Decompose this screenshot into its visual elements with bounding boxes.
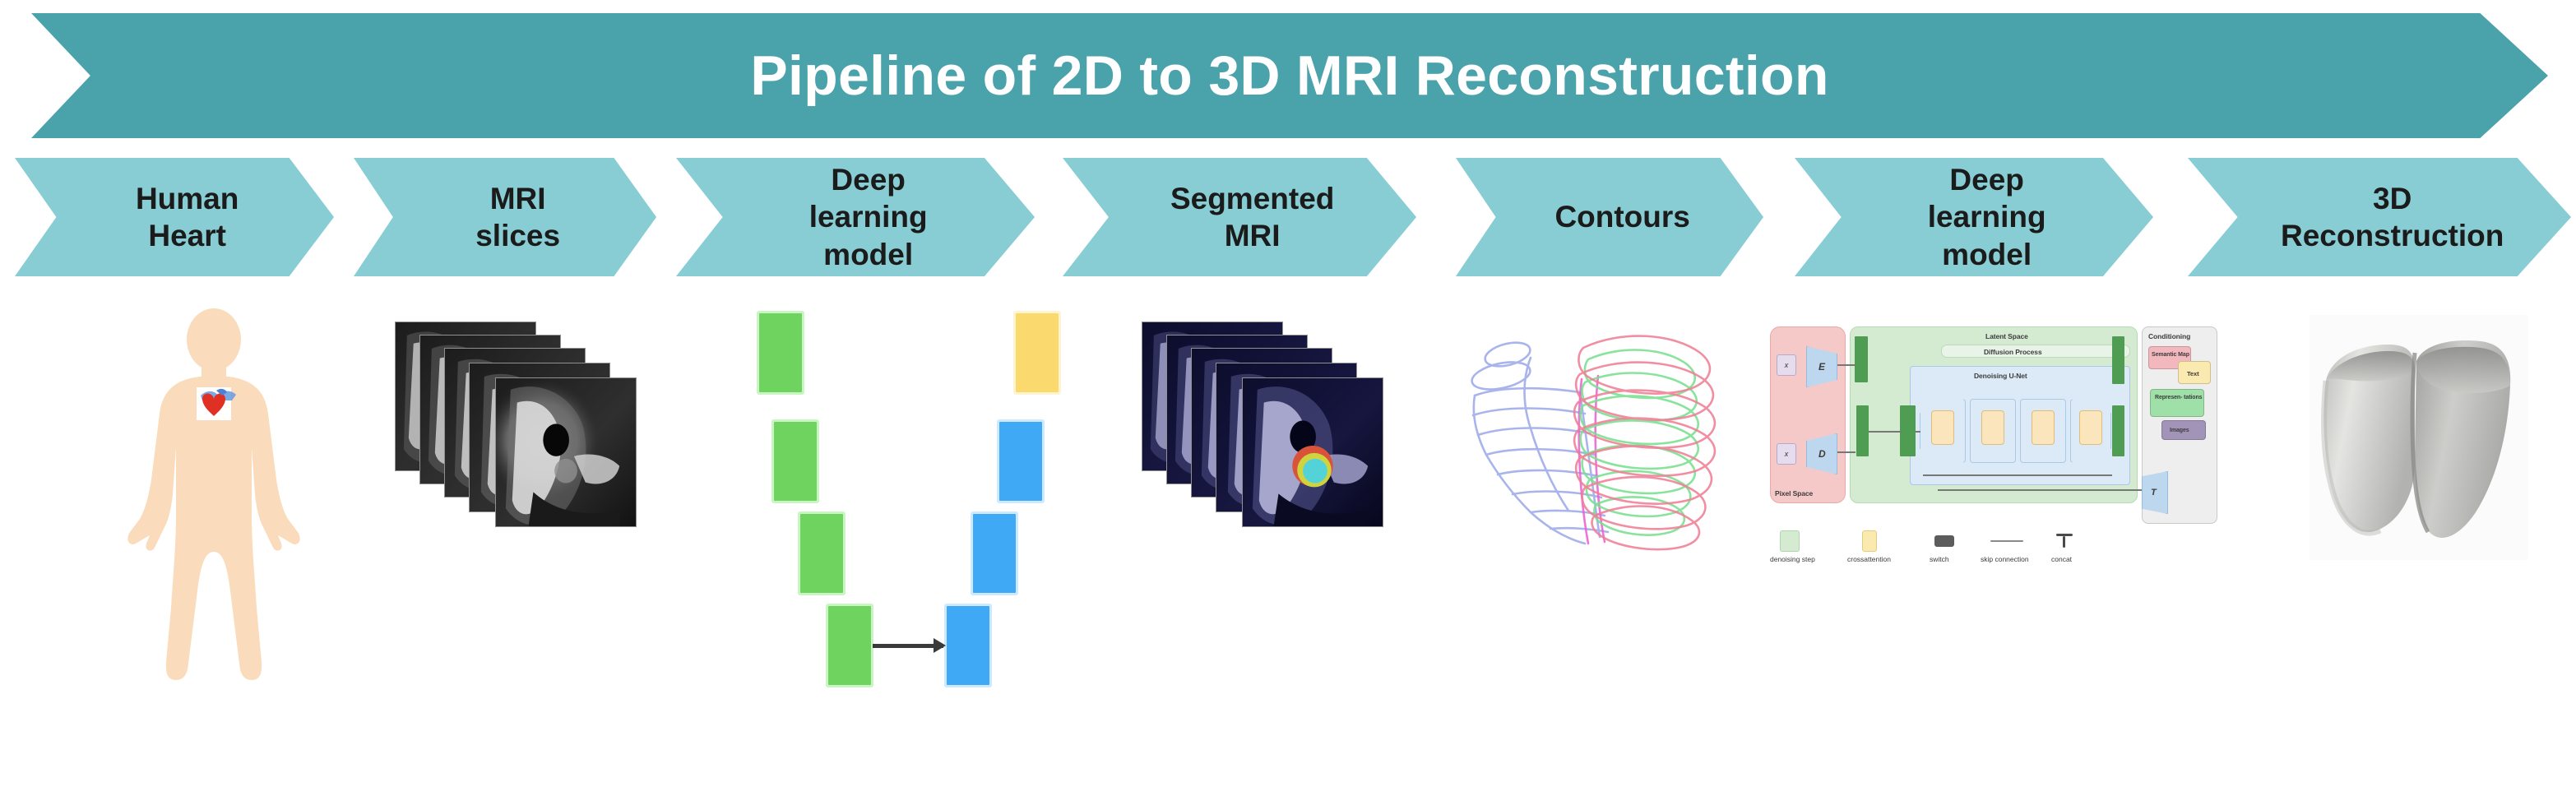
output-x-box: x: [1777, 443, 1796, 465]
title-banner: Pipeline of 2D to 3D MRI Reconstruction: [31, 13, 2548, 138]
latent-z-bar: [1855, 336, 1868, 382]
tau-symbol: T: [2151, 488, 2157, 497]
conditioning-images: Images: [2161, 420, 2206, 440]
legend-concat: concat: [2051, 555, 2072, 563]
step-label: Deep learning model: [1897, 161, 2076, 272]
crossattention-block: [2032, 410, 2055, 445]
connector-line: [1837, 451, 1856, 453]
connector-line: [1869, 431, 1902, 433]
latent-z-bar: [1856, 405, 1869, 456]
human-body-silhouette-icon: [115, 308, 313, 695]
unet-encoder-block: [774, 422, 817, 501]
concat-icon-stem: [2063, 536, 2065, 548]
step-deep-learning-model-2[interactable]: Deep learning model: [1795, 158, 2153, 276]
encoder-symbol: E: [1818, 361, 1825, 373]
conditioning-images-label: Images: [2170, 428, 2189, 433]
legend-denoising-step: denoising step: [1770, 555, 1815, 563]
input-x-box: x: [1777, 354, 1796, 376]
contour-wireframe-mesh-icon: [1460, 300, 1740, 572]
pipeline-content: Pixel Space x x E D Latent Space Diffusi…: [0, 292, 2576, 720]
unet-architecture-icon: [744, 307, 1073, 701]
step-label: Contours: [1554, 198, 1689, 235]
switch-icon: [1934, 535, 1954, 547]
ldm-legend: denoising step crossattention switch ski…: [1770, 530, 2263, 573]
legend-crossattention: crossattention: [1847, 555, 1891, 563]
step-segmented-mri[interactable]: Segmented MRI: [1063, 158, 1416, 276]
latent-z-bar: [1903, 405, 1916, 456]
segmented-mri-stack: [1142, 322, 1405, 568]
step-human-heart[interactable]: Human Heart: [15, 158, 334, 276]
skip-connection-line: [1923, 474, 2112, 476]
connector-line: [1916, 431, 1920, 433]
segmented-slice-overlay: [1242, 377, 1383, 527]
mri-slice-stack: [395, 322, 658, 568]
latent-zT-bar: [2112, 336, 2124, 384]
decoder-symbol: D: [1818, 448, 1826, 460]
page-title: Pipeline of 2D to 3D MRI Reconstruction: [750, 44, 1828, 108]
conditioning-text-label: Text: [2187, 370, 2198, 377]
step-label: Human Heart: [136, 180, 239, 254]
pixel-space-label: Pixel Space: [1775, 489, 1813, 497]
step-contours[interactable]: Contours: [1456, 158, 1763, 276]
denoising-unet-label: Denoising U-Net: [1974, 372, 2027, 380]
conditioning-representations-label: Represen- tations: [2155, 395, 2203, 402]
conditioning-feed-line: [1938, 489, 2143, 491]
denoising-step-icon: [1780, 530, 1800, 552]
crossattention-block: [2079, 410, 2102, 445]
skip-connection-icon: [1990, 540, 2023, 542]
legend-switch: switch: [1930, 555, 1949, 563]
step-3d-reconstruction[interactable]: 3D Reconstruction: [2188, 158, 2571, 276]
unet-output-block: [1016, 313, 1059, 392]
conditioning-label: Conditioning: [2148, 332, 2190, 340]
legend-skip-connection: skip connection: [1981, 555, 2029, 563]
step-label: Segmented MRI: [1170, 180, 1334, 254]
unet-encoder-block: [828, 606, 871, 685]
unet-encoder-block: [759, 313, 802, 392]
crossattention-block: [1931, 410, 1954, 445]
conditioning-representations: Represen- tations: [2150, 389, 2204, 417]
mri-slice: [495, 377, 637, 527]
conditioning-semantic-map-label: Semantic Map: [2152, 352, 2189, 358]
unet-encoder-block: [800, 514, 843, 593]
step-deep-learning-model-1[interactable]: Deep learning model: [676, 158, 1035, 276]
pipeline-diagram: Pipeline of 2D to 3D MRI Reconstruction …: [0, 0, 2576, 796]
3d-heart-mesh-render-icon: [2295, 302, 2541, 573]
step-label: 3D Reconstruction: [2281, 180, 2504, 254]
diffusion-process-label: Diffusion Process: [1984, 348, 2042, 356]
crossattention-block: [1981, 410, 2004, 445]
step-mri-slices[interactable]: MRI slices: [354, 158, 656, 276]
connector-line: [1837, 364, 1856, 366]
latent-space-label: Latent Space: [1985, 332, 2028, 340]
unet-decoder-block: [973, 514, 1016, 593]
latent-diffusion-model-icon: Pixel Space x x E D Latent Space Diffusi…: [1770, 326, 2263, 573]
unet-bottleneck-arrow: [873, 644, 943, 648]
crossattention-icon: [1862, 530, 1877, 552]
pipeline-steps: Human Heart MRI slices Deep learning mod…: [0, 158, 2576, 280]
unet-decoder-block: [999, 422, 1042, 501]
step-label: MRI slices: [475, 180, 560, 254]
step-label: Deep learning model: [779, 161, 957, 272]
conditioning-text: Text: [2178, 361, 2211, 384]
unet-decoder-block: [947, 606, 989, 685]
latent-zT-bar: [2112, 405, 2124, 456]
